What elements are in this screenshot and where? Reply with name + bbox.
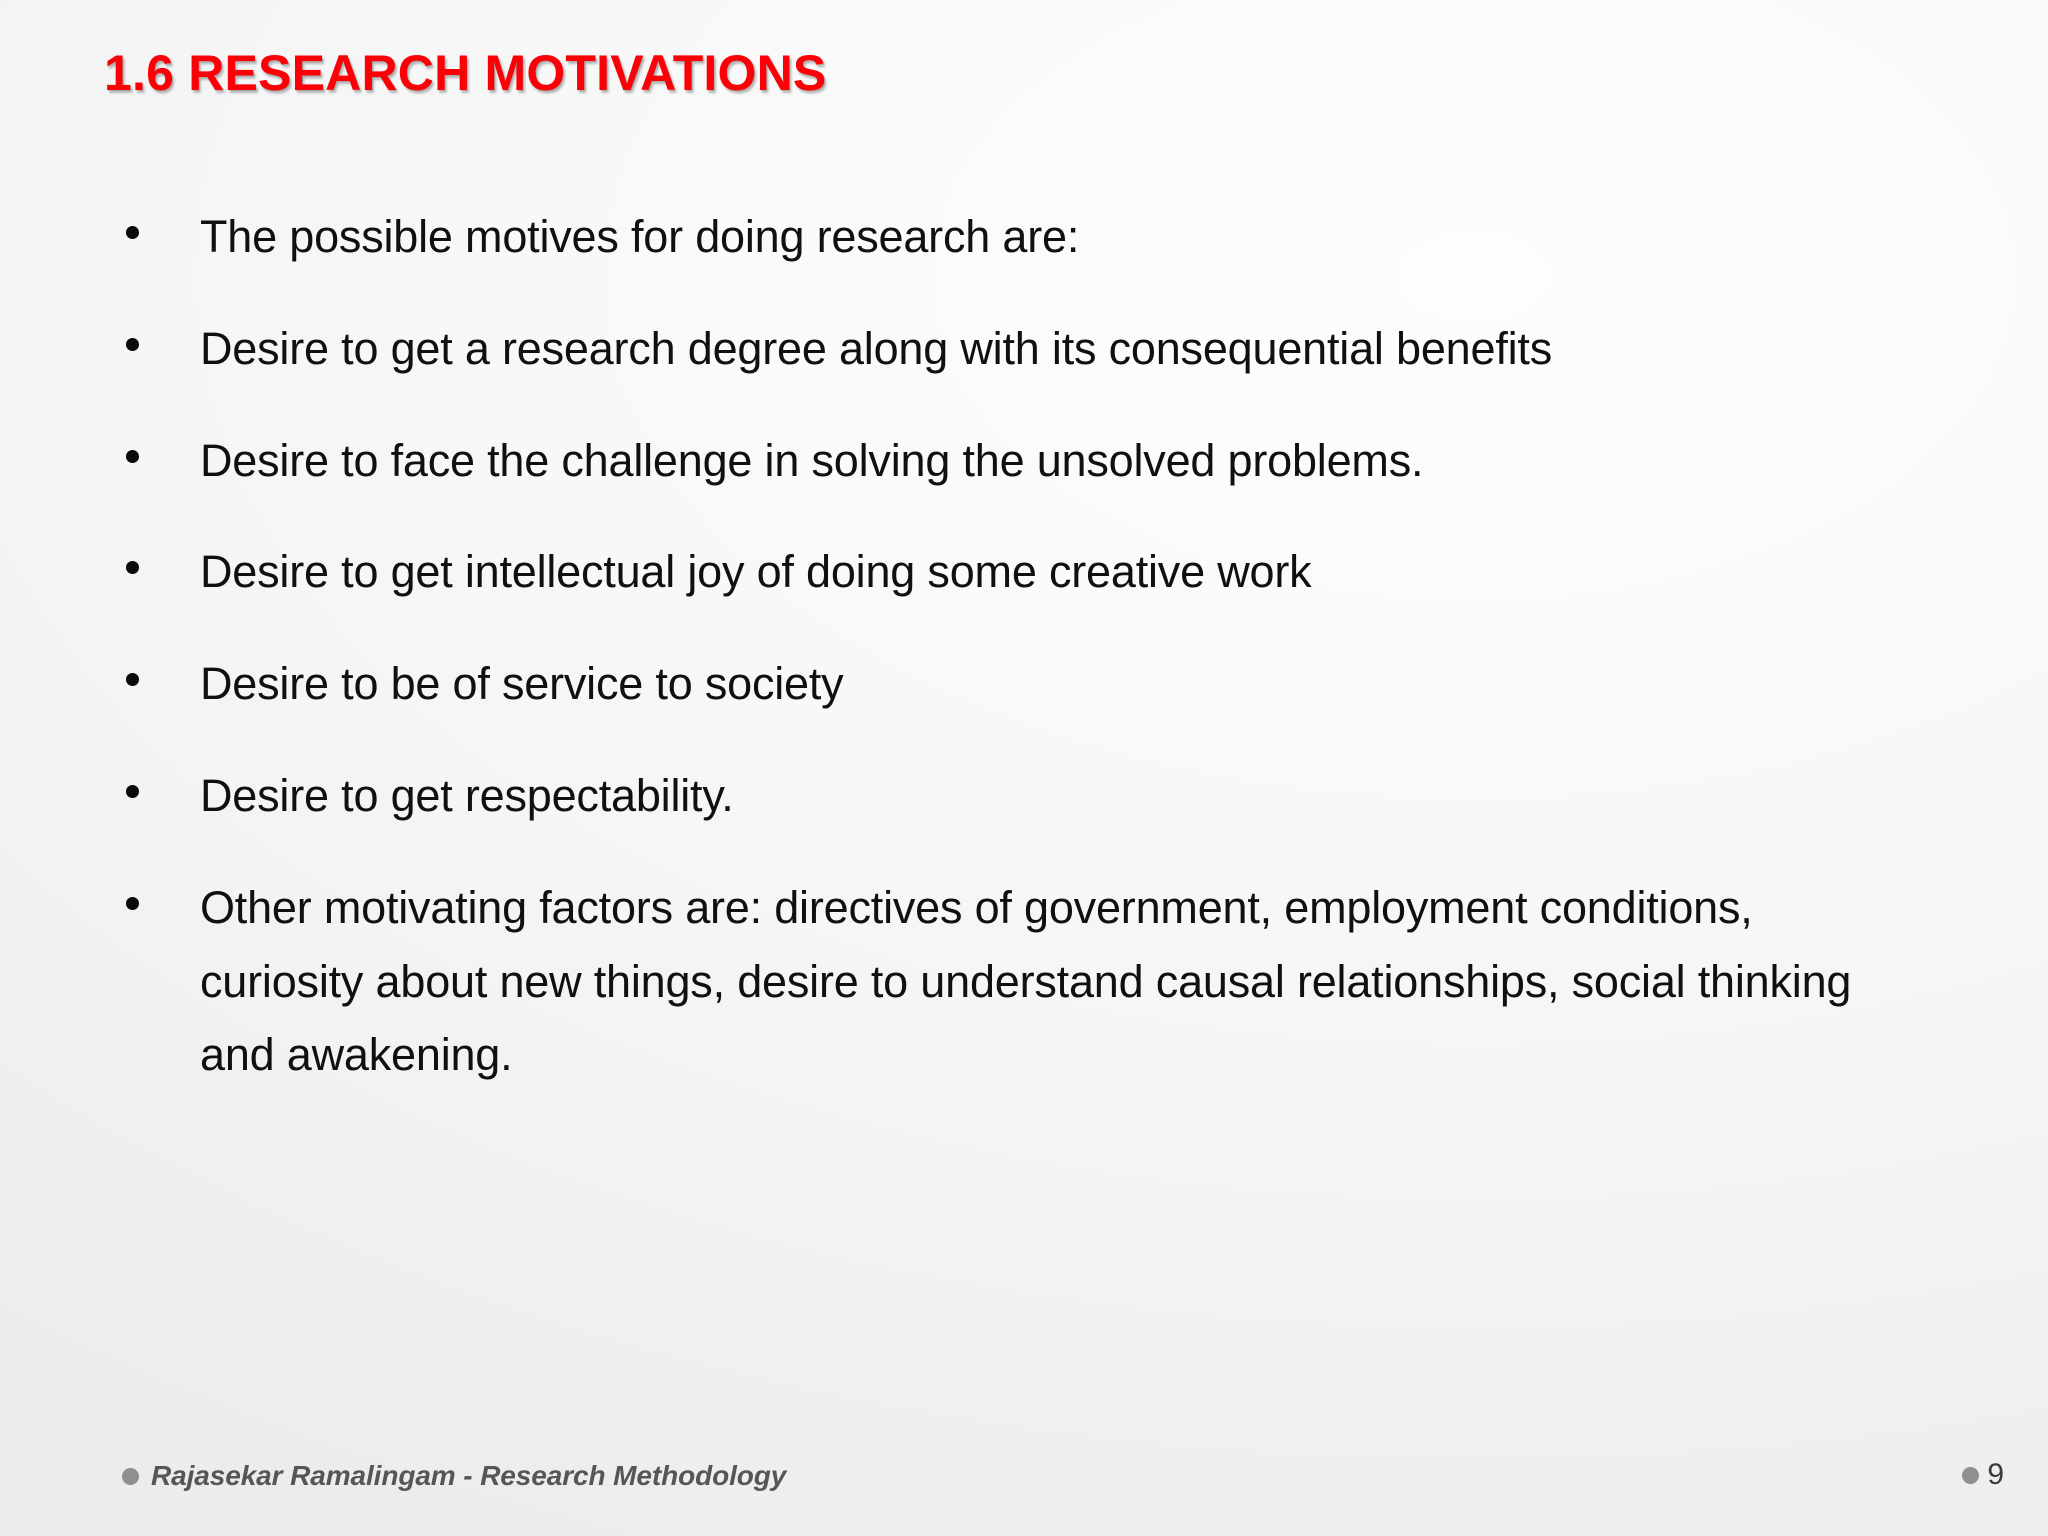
list-item: Desire to get intellectual joy of doing …	[104, 535, 1984, 609]
list-item: Desire to face the challenge in solving …	[104, 424, 1984, 498]
list-item: Desire to get respectability.	[104, 759, 1984, 833]
bullet-dot-icon	[104, 424, 200, 480]
bullet-dot-icon	[104, 312, 200, 368]
bullet-dot-icon	[104, 535, 200, 591]
list-item: Desire to get a research degree along wi…	[104, 312, 1984, 386]
footer-label: Rajasekar Ramalingam - Research Methodol…	[151, 1460, 786, 1492]
footer-page-block: 9	[1962, 1458, 2004, 1492]
page-title: 1.6 RESEARCH MOTIVATIONS	[104, 46, 1944, 100]
list-item: The possible motives for doing research …	[104, 200, 1984, 274]
list-item-label: Other motivating factors are: directives…	[200, 871, 1900, 1092]
list-item: Desire to be of service to society	[104, 647, 1984, 721]
footer-author-block: Rajasekar Ramalingam - Research Methodol…	[122, 1460, 786, 1492]
bullet-dot-icon	[104, 647, 200, 703]
list-item-label: The possible motives for doing research …	[200, 200, 1984, 274]
slide-canvas: 1.6 RESEARCH MOTIVATIONS The possible mo…	[0, 0, 2048, 1536]
slide-body-bullet-list: The possible motives for doing research …	[104, 200, 1984, 1092]
list-item: Other motivating factors are: directives…	[104, 871, 1984, 1092]
slide-title-block: 1.6 RESEARCH MOTIVATIONS	[104, 46, 1944, 100]
bullet-dot-icon	[104, 200, 200, 256]
bullet-dot-icon	[104, 871, 200, 927]
list-item-label: Desire to be of service to society	[200, 647, 1984, 721]
bullet-dot-icon	[104, 759, 200, 815]
list-item-label: Desire to get intellectual joy of doing …	[200, 535, 1984, 609]
page-number: 9	[1987, 1458, 2004, 1492]
list-item-label: Desire to face the challenge in solving …	[200, 424, 1984, 498]
dot-icon	[122, 1468, 139, 1485]
slide-footer: Rajasekar Ramalingam - Research Methodol…	[0, 1446, 2048, 1492]
list-item-label: Desire to get respectability.	[200, 759, 1984, 833]
dot-icon	[1962, 1467, 1979, 1484]
list-item-label: Desire to get a research degree along wi…	[200, 312, 1984, 386]
